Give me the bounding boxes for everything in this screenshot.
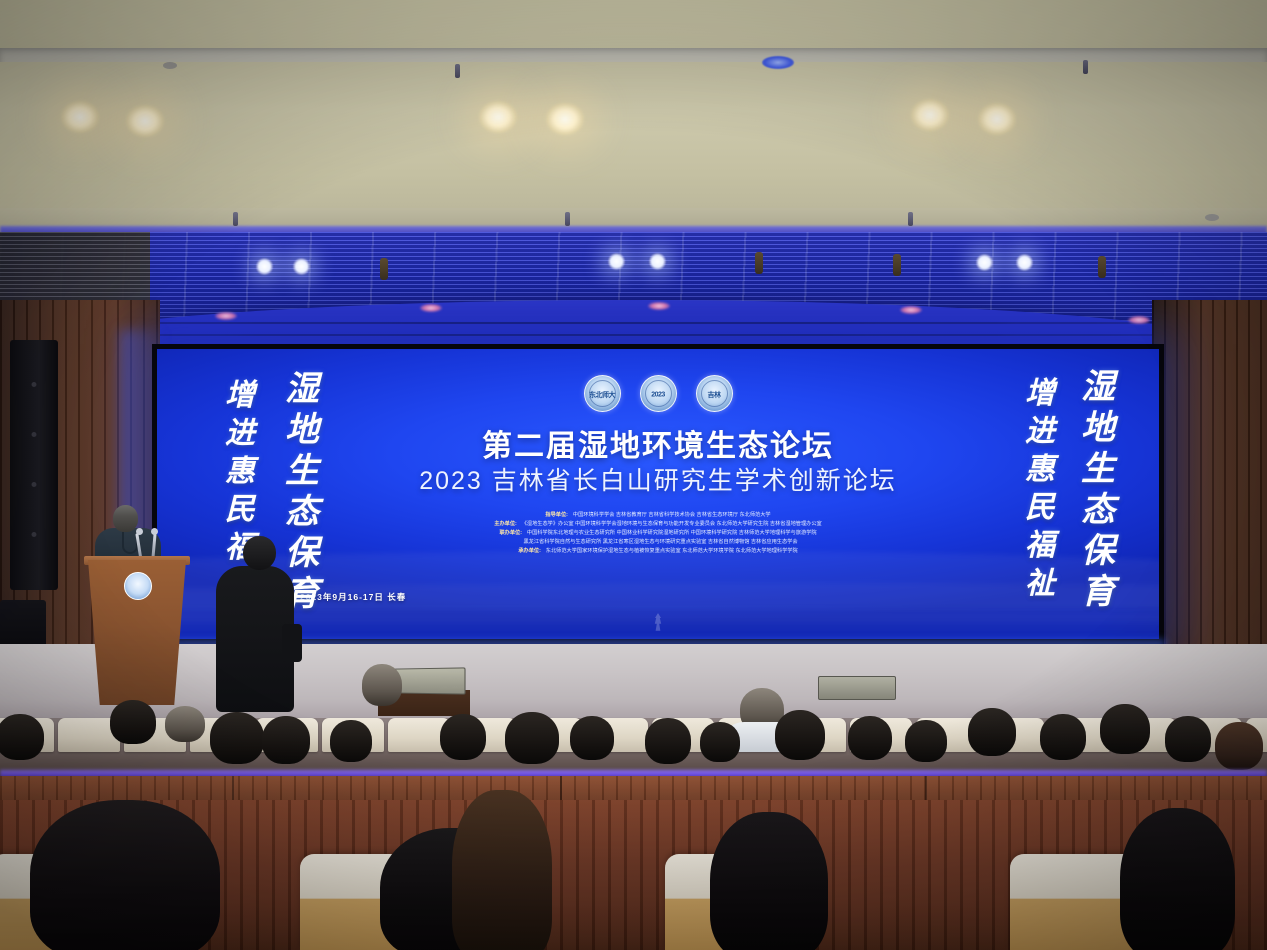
organizer-credits: 指导单位: 中国环境科学学会 吉林省教育厅 吉林省科学技术协会 吉林省生态环境厅… [157,511,1159,555]
organizer-value: 中国科学院东北地理与农业生态研究所 中国林业科学研究院湿地研究所 中国环境科学研… [527,529,817,537]
stage-ceiling-spotlight [292,258,311,275]
audience-head [330,720,372,762]
smoke-detector-icon [163,62,177,69]
emblem-text: 东北师大 [589,390,615,400]
forum-title: 第二届湿地环境生态论坛 [157,421,1159,465]
audience-head [1165,716,1211,762]
ceiling-main-surface [0,62,1267,222]
organizer-label: 主办单位: [494,520,516,528]
organizer-label: 联办单位: [499,529,521,537]
foreground-person-head [1120,808,1235,950]
ceiling-downlight [977,102,1017,136]
arch-trim-line [0,334,1267,336]
arch-trim-line [0,322,1267,324]
audience-head [362,664,402,706]
organizer-line: 指导单位: 中国环境科学学会 吉林省教育厅 吉林省科学技术协会 吉林省生态环境厅… [545,511,770,519]
sprinkler-head-icon [233,212,238,226]
stage-ceiling-spotlight [1015,254,1034,271]
audience-head [1215,722,1263,770]
auditorium-photo: 东北师大 2023 吉林 第二届湿地环境生态论坛 2023 吉林省长白山研究生学… [0,0,1267,950]
ceiling-downlight [478,100,518,134]
audience-head [210,712,264,764]
microphone-head-icon [151,528,158,535]
audience-head [700,722,740,762]
arch-accent-light [648,302,670,310]
forum-subtitle: 2023 吉林省长白山研究生学术创新论坛 [157,461,1159,497]
line-array-speaker [10,340,58,590]
smoke-detector-icon [1205,214,1219,221]
presentation-laptop-secondary [818,676,896,700]
audience-head [848,716,892,760]
organization-emblems: 东北师大 2023 吉林 [157,375,1159,412]
sprinkler-head-icon [565,212,570,226]
ceiling-hanging-fixture [755,252,763,274]
screen-content: 东北师大 2023 吉林 第二届湿地环境生态论坛 2023 吉林省长白山研究生学… [157,349,1159,639]
foreground-person-head [30,800,220,950]
standing-attendee-head [243,536,276,570]
emblem-forum-2023: 2023 [640,375,677,412]
audience-head [1100,704,1150,754]
organizer-line: 承办单位: 东北师范大学国家环境保护湿地生态与植被恢复重点实验室 东北师范大学环… [518,547,797,555]
stage-ceiling-spotlight [648,253,667,270]
sprinkler-head-icon [455,64,460,78]
organizer-value: 东北师范大学国家环境保护湿地生态与植被恢复重点实验室 东北师范大学环境学院 东北… [546,547,798,555]
audience-head [110,700,156,744]
sprinkler-head-icon [1083,60,1088,74]
organizer-line: 联办单位: 中国科学院东北地理与农业生态研究所 中国林业科学研究院湿地研究所 中… [499,529,816,537]
presenter-head [113,505,138,532]
stage-ceiling-spotlight [255,258,274,275]
audience-head [262,716,310,764]
organizer-value: 《湿地生态学》办公室 中国环境科学学会湿地环境与生态保育与功能开发专业委员会 东… [522,520,822,528]
forum-date-location: 2023年9月16-17日 长春 [300,591,406,603]
arch-accent-light [900,306,922,314]
emblem-northeast-normal-university: 东北师大 [584,375,621,412]
presentation-laptop [394,667,466,694]
organizer-label: 承办单位: [518,547,540,555]
ceiling-hanging-fixture [893,254,901,276]
audience-head [440,714,486,760]
foreground-person-head [452,790,552,950]
ceiling-hanging-fixture [380,258,388,280]
podium-university-emblem [124,572,152,600]
organizer-value: 黑龙江省科学院自然与生态研究所 黑龙江省寒区湿地生态与环境研究重点实验室 吉林省… [523,538,797,546]
audience-head [1040,714,1086,760]
arch-accent-light [215,312,237,320]
audience-head [905,720,947,762]
stage-ceiling-spotlight [975,254,994,271]
emblem-text: 吉林 [708,390,721,400]
microphone-head-icon [136,528,143,535]
ceiling-blue-led-fixture [762,56,794,69]
stage-ceiling-spotlight [607,253,626,270]
organizer-label: 指导单位: [545,511,567,519]
emblem-jilin-academy: 吉林 [696,375,733,412]
organizer-value: 中国环境科学学会 吉林省教育厅 吉林省科学技术协会 吉林省生态环境厅 东北师范大… [573,511,771,519]
arch-accent-light [1128,316,1150,324]
standing-attendee-bag [282,624,302,662]
ceiling-hanging-fixture [1098,256,1106,278]
sprinkler-head-icon [908,212,913,226]
ceiling-downlight [545,102,585,136]
audience-head [165,706,205,742]
audience-head [775,710,825,760]
audience-head [645,718,691,764]
led-stage-screen: 东北师大 2023 吉林 第二届湿地环境生态论坛 2023 吉林省长白山研究生学… [152,344,1164,644]
organizer-line: 黑龙江省科学院自然与生态研究所 黑龙江省寒区湿地生态与环境研究重点实验室 吉林省… [518,538,797,546]
ceiling-downlight [910,98,950,132]
foreground-person-head [710,812,828,950]
ceiling-downlight [60,100,100,134]
audience-head [968,708,1016,756]
ceiling-downlight [125,104,165,138]
audience-head [505,712,559,764]
organizer-line: 主办单位: 《湿地生态学》办公室 中国环境科学学会湿地环境与生态保育与功能开发专… [494,520,822,528]
audience-head [570,716,614,760]
arch-accent-light [420,304,442,312]
audience-head [0,714,44,760]
emblem-text: 2023 [651,391,665,398]
